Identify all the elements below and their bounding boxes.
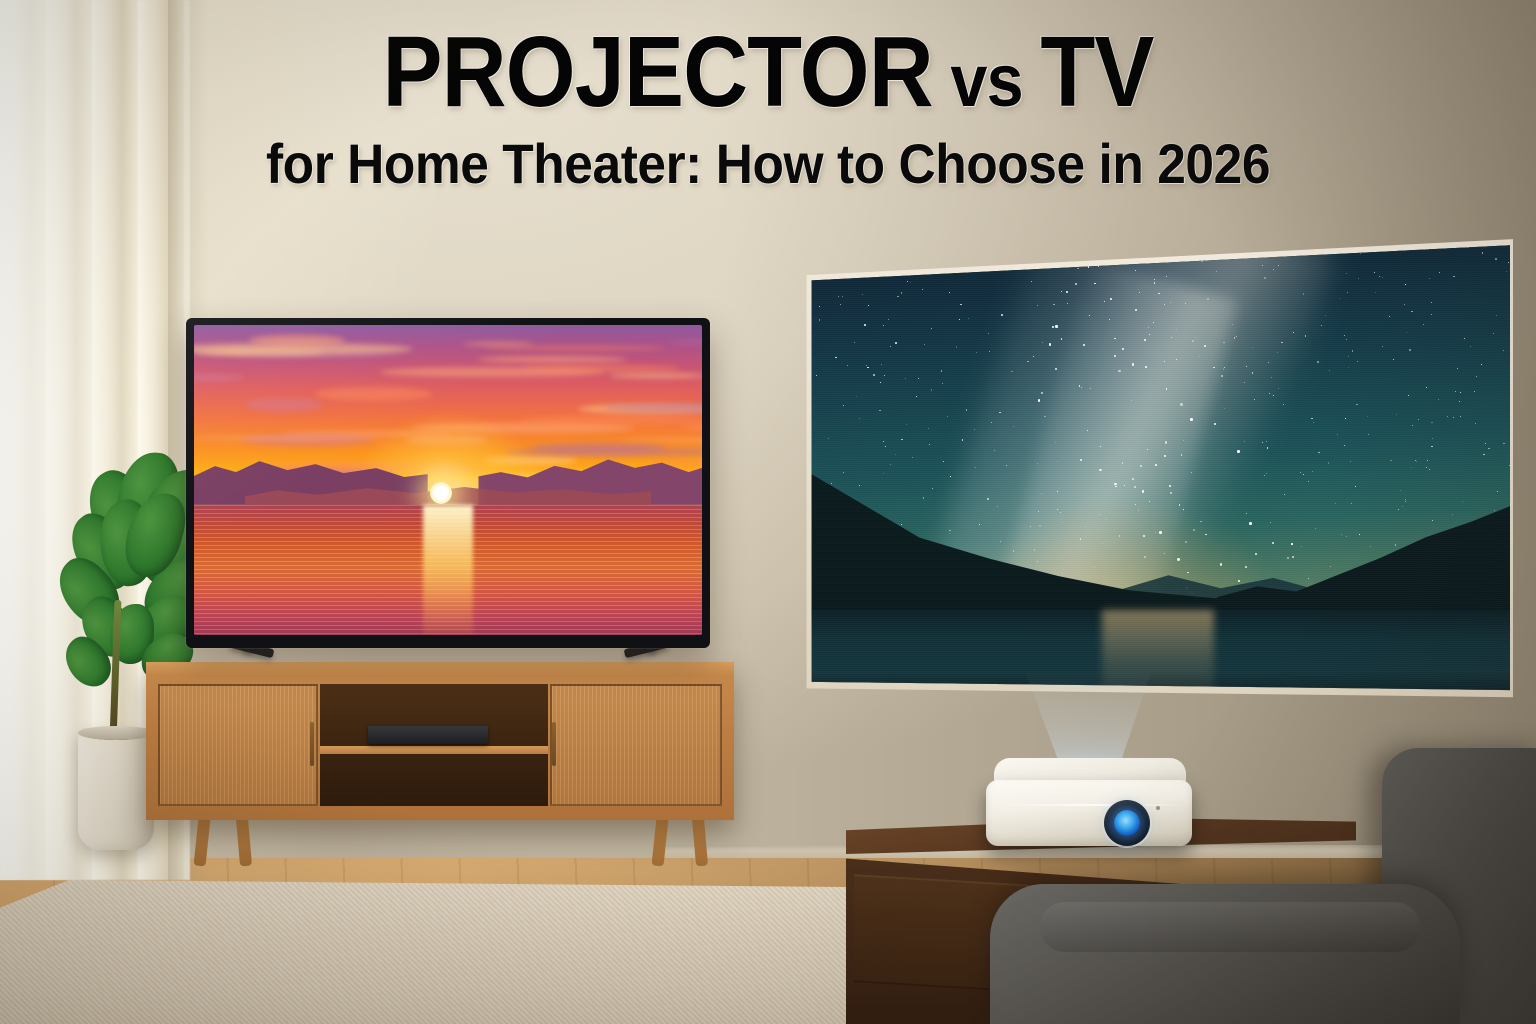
console-shelf <box>320 746 548 754</box>
title-block: PROJECTOR vs TV for Home Theater: How to… <box>0 24 1536 192</box>
projector-body <box>986 780 1192 846</box>
console-handle-left[interactable] <box>310 722 314 766</box>
page-subtitle: for Home Theater: How to Choose in 2026 <box>61 136 1474 192</box>
title-word-tv: TV <box>1040 16 1153 128</box>
tv-screen <box>194 325 702 635</box>
console-handle-right[interactable] <box>552 722 556 766</box>
projector-seam <box>1000 804 1178 806</box>
console-open-compartment <box>320 684 548 806</box>
sun-reflection <box>423 505 474 635</box>
title-word-projector: PROJECTOR <box>382 16 932 128</box>
console-door-right[interactable] <box>550 684 722 806</box>
flat-screen-tv <box>186 318 710 648</box>
title-word-vs: vs <box>933 39 1040 122</box>
media-player-box <box>368 726 488 744</box>
screenshot-root: PROJECTOR vs TV for Home Theater: How to… <box>0 0 1536 1024</box>
armchair-arm-highlight <box>1040 902 1420 952</box>
page-title: PROJECTOR vs TV <box>77 24 1459 120</box>
plant-pot-rim <box>78 726 154 740</box>
projected-screen <box>806 236 1510 698</box>
area-rug <box>0 880 870 1024</box>
tv-console <box>146 662 734 820</box>
projector <box>986 758 1192 850</box>
sun-disk <box>430 482 452 504</box>
console-top-surface <box>146 662 734 676</box>
projector-sensor-icon <box>1156 806 1160 810</box>
plant-pot <box>78 728 154 850</box>
projector-lens-icon <box>1114 810 1140 836</box>
console-door-left[interactable] <box>158 684 318 806</box>
